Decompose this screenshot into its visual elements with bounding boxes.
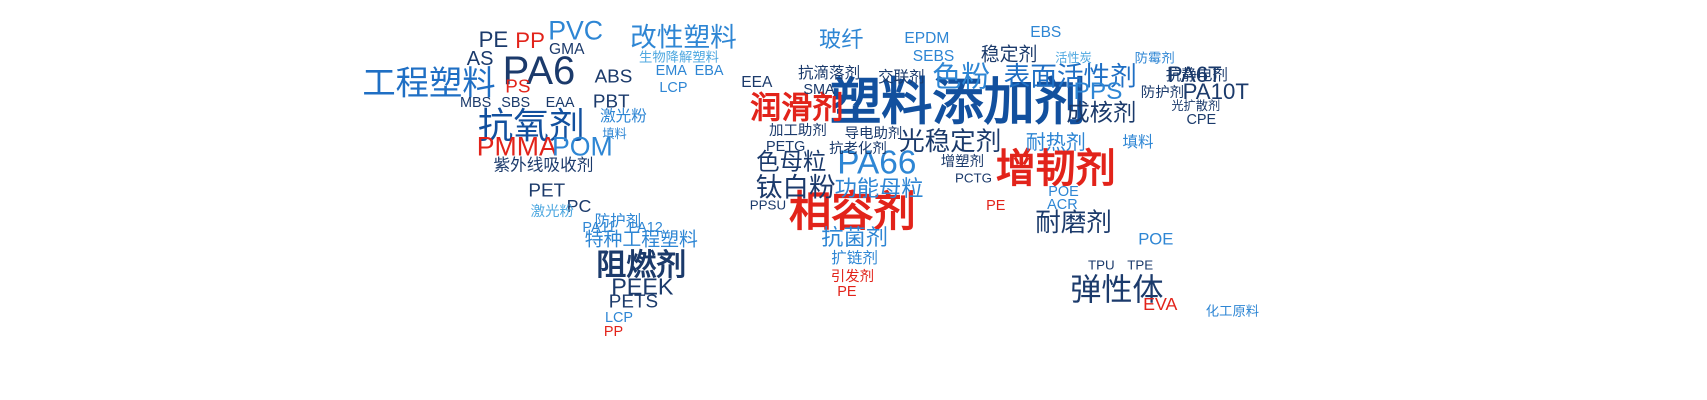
word-cloud-term[interactable]: 色粉 (932, 64, 990, 93)
word-cloud-term[interactable]: 耐热剂 (1026, 133, 1086, 153)
word-cloud-term[interactable]: PE (986, 199, 1005, 213)
word-cloud-term[interactable]: 抗静电剂 (1166, 68, 1228, 84)
word-cloud-term[interactable]: 光稳定剂 (899, 130, 1001, 156)
word-cloud-term[interactable]: SBS (501, 96, 530, 110)
word-cloud-term[interactable]: SEBS (913, 49, 954, 65)
word-cloud-term[interactable]: PP (515, 30, 545, 52)
word-cloud-term[interactable]: 功能母粒 (835, 178, 924, 200)
word-cloud-term[interactable]: CPE (1187, 113, 1217, 127)
word-cloud-term[interactable]: PP (604, 325, 623, 339)
word-cloud-term[interactable]: 光扩散剂 (1171, 100, 1220, 112)
word-cloud-term[interactable]: AS (467, 49, 494, 69)
word-cloud-term[interactable]: 填料 (1122, 135, 1153, 151)
word-cloud-term[interactable]: 活性炭 (1055, 52, 1092, 64)
word-cloud-term[interactable]: EMA (656, 64, 687, 78)
word-cloud-term[interactable]: 抗滴落剂 (798, 66, 860, 82)
word-cloud-term[interactable]: MBS (460, 96, 491, 110)
word-cloud-term[interactable]: PETG (766, 140, 805, 154)
word-cloud-term[interactable]: 激光粉 (531, 205, 574, 219)
word-cloud-term[interactable]: POE (1138, 232, 1173, 249)
word-cloud-term[interactable]: 激光粉 (600, 109, 647, 125)
word-cloud-term[interactable]: PA11 (582, 221, 615, 235)
word-cloud-term[interactable]: EPDM (904, 31, 949, 47)
word-cloud-term[interactable]: ABS (595, 69, 633, 88)
word-cloud-term[interactable]: ACR (1047, 198, 1077, 212)
word-cloud-term[interactable]: PE (837, 285, 856, 299)
word-cloud-term[interactable]: TPE (1127, 258, 1153, 271)
word-cloud-term[interactable]: 抗老化剂 (829, 142, 887, 156)
word-cloud-term[interactable]: 化工原料 (1206, 304, 1259, 317)
word-cloud-term[interactable]: PPS (1074, 80, 1123, 104)
word-cloud-term[interactable]: 成核剂 (1066, 101, 1136, 124)
word-cloud-term[interactable]: LCP (659, 81, 687, 95)
word-cloud-term[interactable]: 玻纤 (819, 29, 863, 51)
word-cloud-term[interactable]: 引发剂 (831, 270, 874, 284)
word-cloud-term[interactable]: SMA (803, 83, 834, 97)
word-cloud-term[interactable]: 导电助剂 (845, 127, 903, 141)
word-cloud-term[interactable]: 耐磨剂 (1035, 211, 1112, 237)
word-cloud-term[interactable]: 改性塑料 (630, 25, 737, 52)
word-cloud-term[interactable]: 加工助剂 (769, 124, 827, 138)
word-cloud-term[interactable]: 填料 (602, 128, 626, 140)
word-cloud-term[interactable]: PPSU (750, 198, 786, 211)
word-cloud-term[interactable]: EEA (741, 75, 772, 91)
word-cloud-term[interactable]: TPU (1088, 258, 1115, 271)
word-cloud-term[interactable]: 抗菌剂 (821, 227, 888, 249)
wordcloud-canvas: 塑料添加剂相容剂增韧剂工程塑料抗氧剂润滑剂表面活性剂阻燃剂PA6PA66弹性体色… (0, 0, 1707, 400)
word-cloud-term[interactable]: 扩链剂 (831, 251, 878, 267)
word-cloud-term[interactable]: EVA (1143, 296, 1177, 314)
word-cloud-term[interactable]: PCTG (955, 171, 992, 184)
word-cloud-term[interactable]: 生物降解塑料 (639, 50, 719, 63)
word-cloud-term[interactable]: 紫外线吸收剂 (493, 158, 593, 175)
word-cloud-term[interactable]: EBA (695, 64, 724, 78)
word-cloud-term[interactable]: 稳定剂 (981, 47, 1038, 66)
word-cloud-term[interactable]: PET (528, 183, 565, 202)
word-cloud-term[interactable]: 防霉剂 (1135, 51, 1175, 64)
word-cloud-term[interactable]: EBS (1030, 25, 1061, 41)
word-cloud-term[interactable]: EAA (546, 96, 575, 110)
word-cloud-term[interactable]: 增塑剂 (941, 155, 984, 169)
word-cloud-term[interactable]: 交联剂 (878, 70, 925, 86)
word-cloud-term[interactable]: GMA (549, 42, 584, 58)
word-cloud-term[interactable]: PA12 (629, 221, 663, 235)
